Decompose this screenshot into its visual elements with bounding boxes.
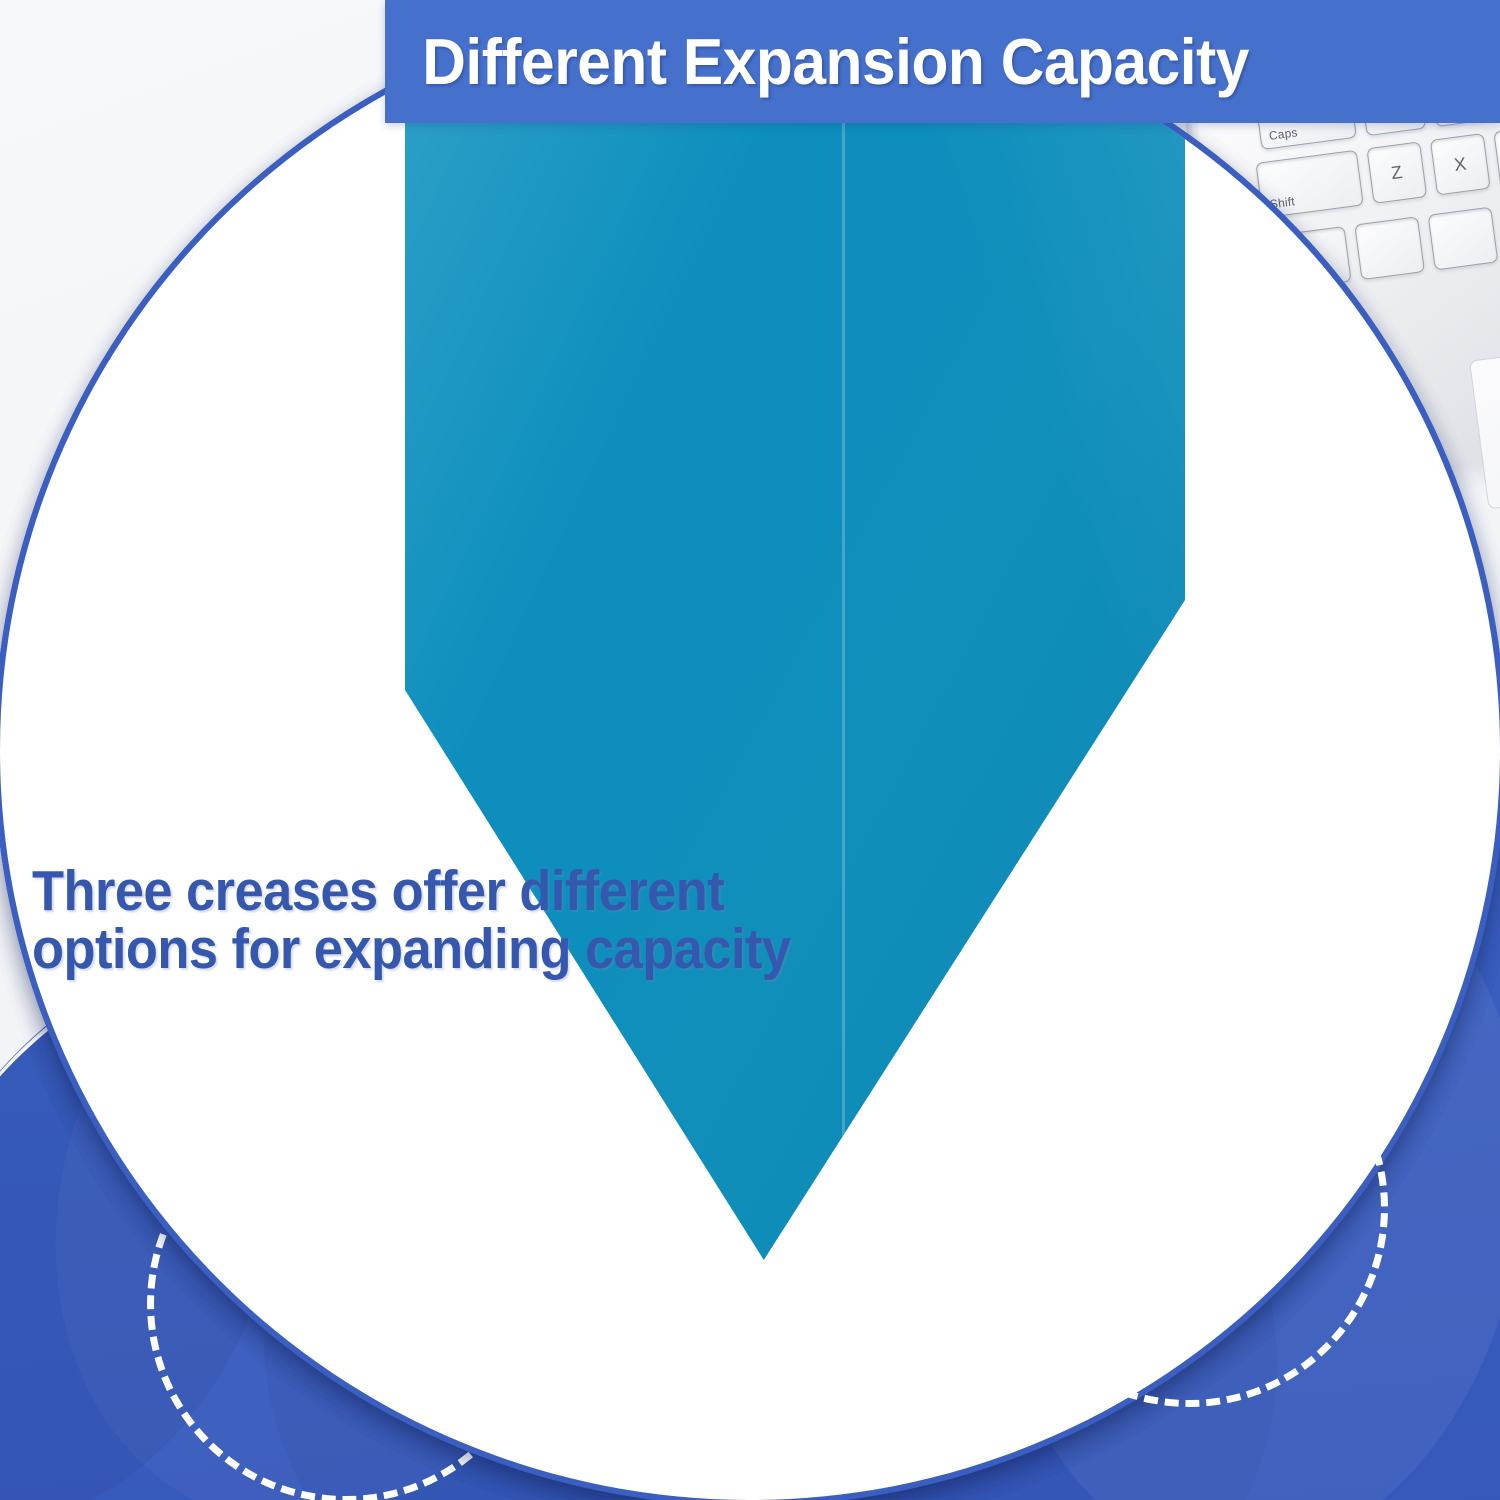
product-infographic: Caps Shift Z X	[0, 0, 1500, 1500]
crease-spine	[842, 0, 845, 1320]
circle-plate	[0, 0, 1500, 1500]
folder-crease-closeup	[405, 0, 1185, 1320]
headline-banner: Different Expansion Capacity	[385, 0, 1500, 123]
paper-sheen	[405, 0, 1185, 1320]
caption-line-2: options for expanding capacity	[32, 920, 860, 978]
page-title: Different Expansion Capacity	[385, 29, 1249, 94]
caption-line-1: Three creases offer different	[32, 862, 860, 920]
feature-caption: Three creases offer different options fo…	[32, 862, 932, 978]
